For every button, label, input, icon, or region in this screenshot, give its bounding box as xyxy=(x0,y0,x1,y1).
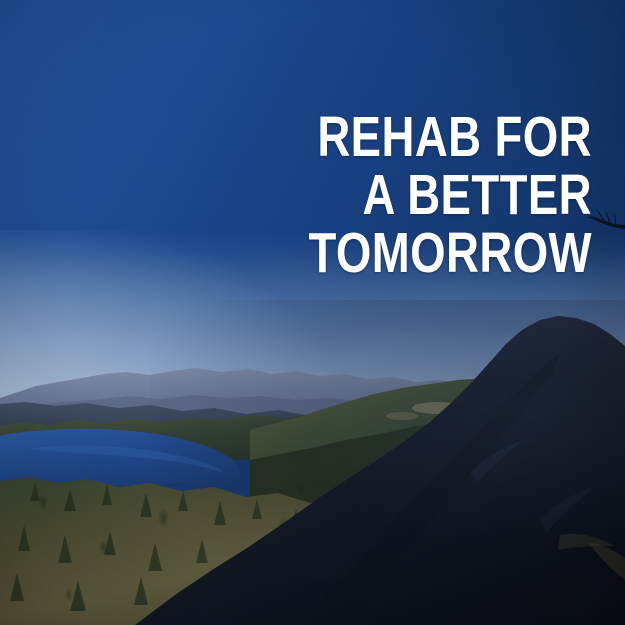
headline-block: REHAB FOR A BETTER TOMORROW xyxy=(162,108,592,282)
headline-line-1: REHAB FOR xyxy=(248,108,592,166)
headline-line-3: TOMORROW xyxy=(248,224,592,282)
poster-canvas: REHAB FOR A BETTER TOMORROW xyxy=(0,0,625,625)
headline-line-2: A BETTER xyxy=(248,166,592,224)
foreground-rock-outcrop xyxy=(0,290,625,625)
